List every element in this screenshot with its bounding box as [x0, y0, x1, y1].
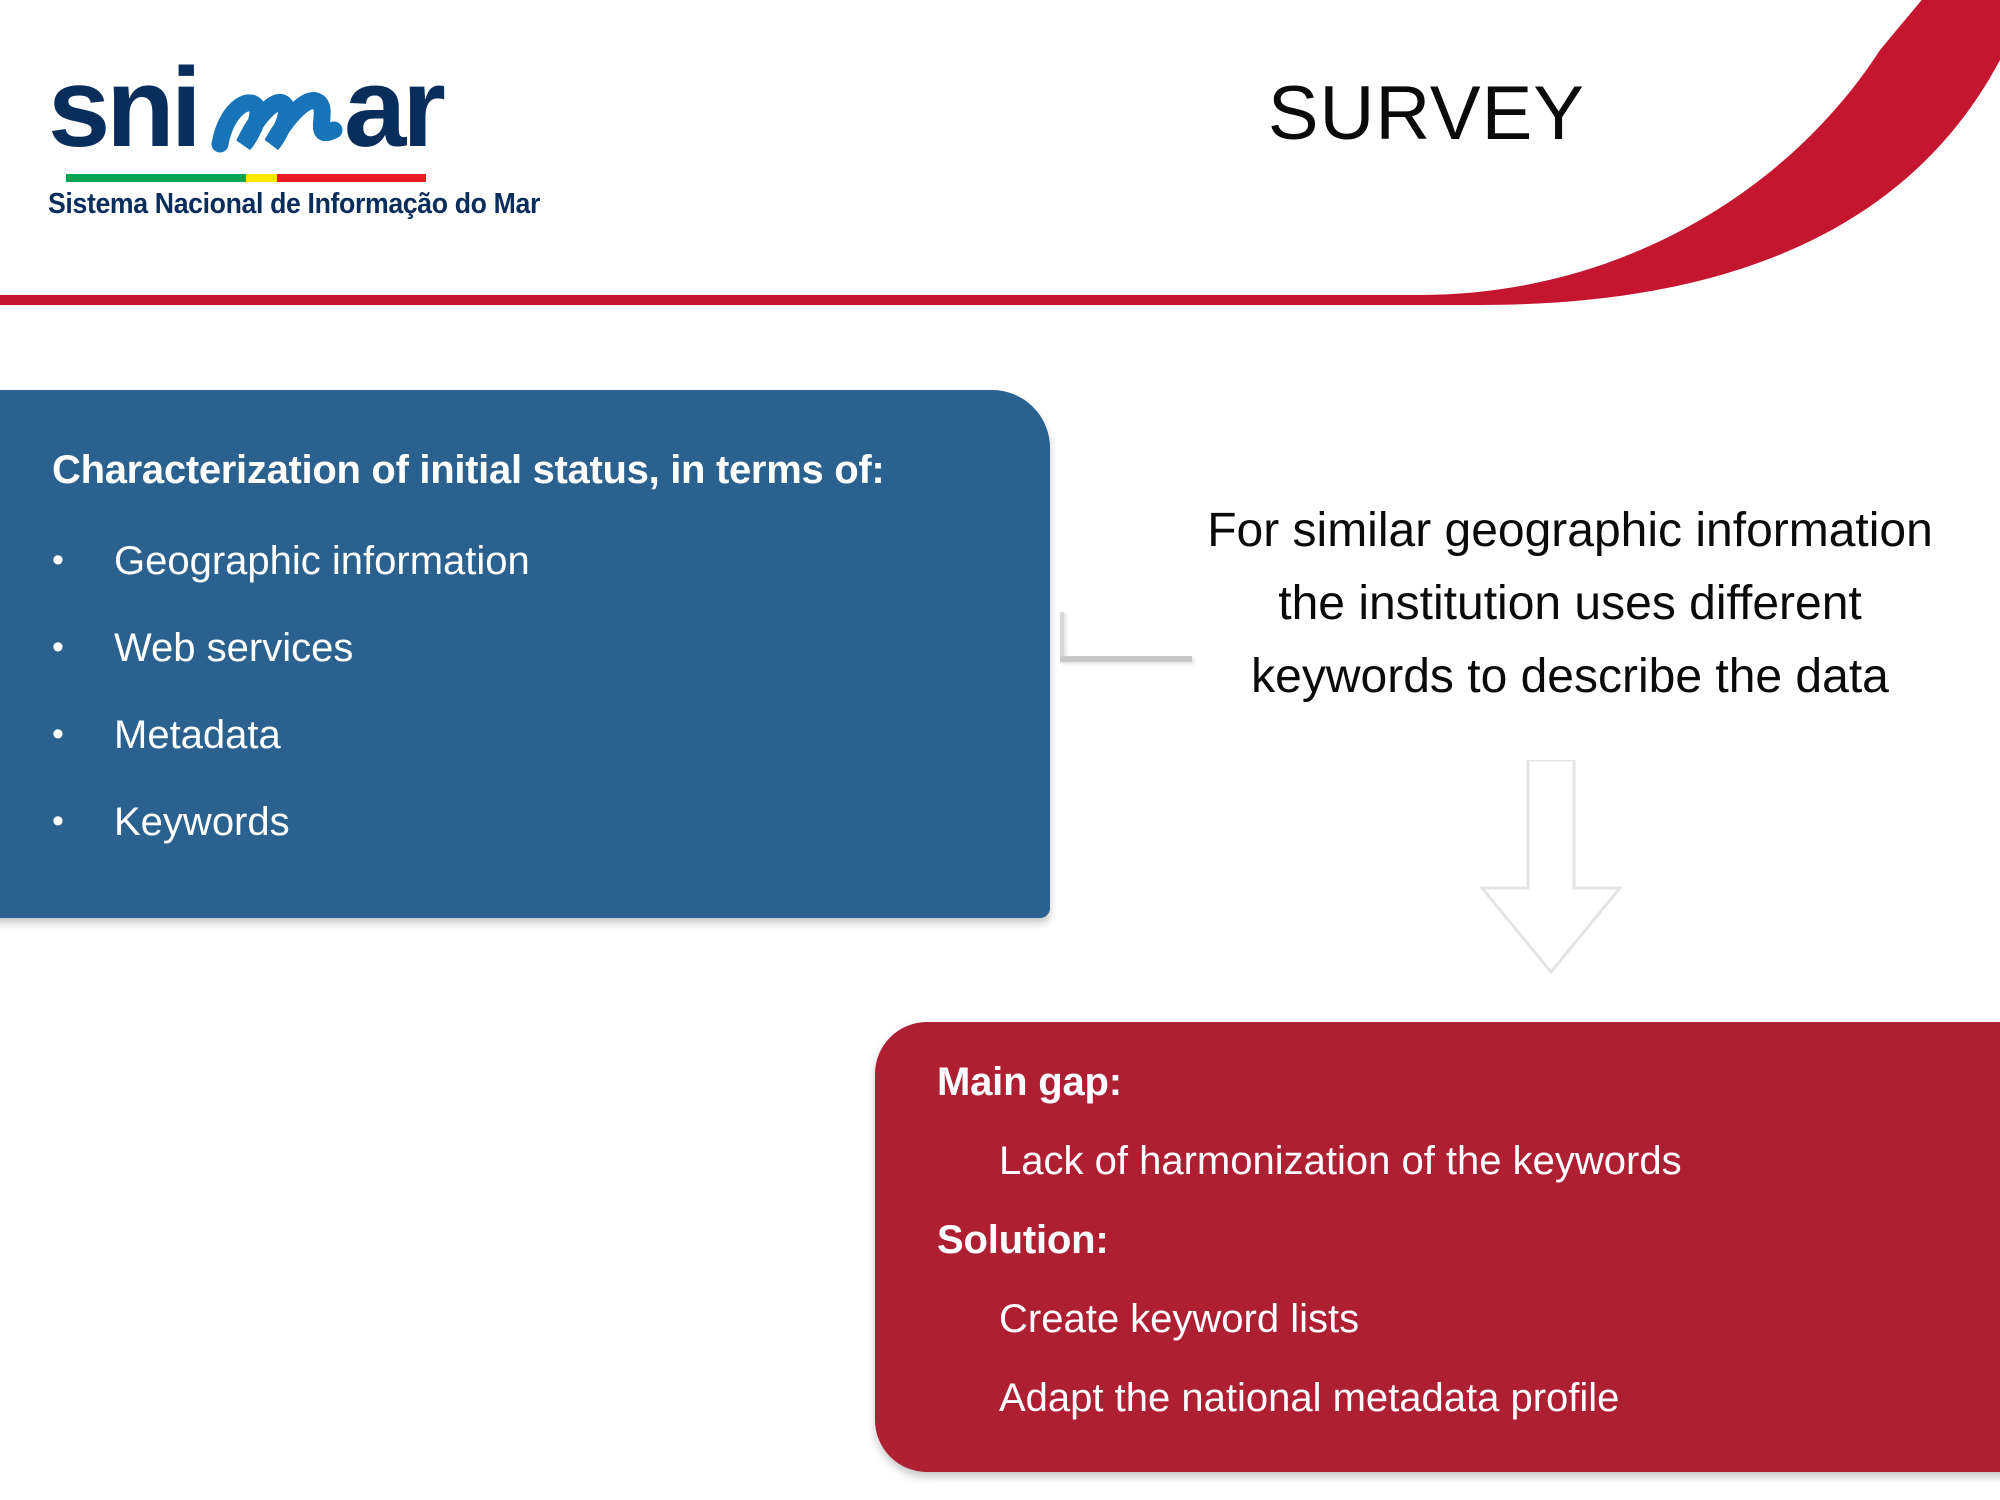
- connector-vertical-line: [1060, 612, 1064, 660]
- main-gap-label: Main gap:: [937, 1060, 2000, 1105]
- svg-text:ar: ar: [344, 48, 444, 168]
- bullet-icon: •: [52, 715, 114, 754]
- logo-color-bar: [66, 174, 426, 182]
- list-item-label: Geographic information: [114, 541, 530, 581]
- svg-text:sni: sni: [48, 48, 198, 168]
- list-item: • Geographic information: [52, 541, 1010, 581]
- slide-canvas: sni ar Sistema Nacional de Informação do…: [0, 0, 2000, 1500]
- list-item-label: Web services: [114, 628, 353, 668]
- logo-bar-yellow: [246, 174, 277, 182]
- logo-tagline: Sistema Nacional de Informação do Mar: [48, 188, 540, 221]
- bullet-icon: •: [52, 802, 114, 841]
- list-item-label: Metadata: [114, 715, 281, 755]
- list-item-label: Keywords: [114, 802, 290, 842]
- logo-bar-green: [66, 174, 246, 182]
- characterization-list: • Geographic information • Web services …: [52, 541, 1010, 842]
- snimar-logo: sni ar Sistema Nacional de Informação do…: [48, 48, 568, 228]
- bullet-icon: •: [52, 541, 114, 580]
- solution-label: Solution:: [937, 1218, 2000, 1263]
- bullet-icon: •: [52, 628, 114, 667]
- callout-text-block: For similar geographic information the i…: [1155, 495, 1985, 714]
- callout-line: keywords to describe the data: [1155, 641, 1985, 714]
- callout-line: For similar geographic information: [1155, 495, 1985, 568]
- solution-item: Adapt the national metadata profile: [999, 1376, 2000, 1421]
- main-gap-item: Lack of harmonization of the keywords: [999, 1139, 2000, 1184]
- list-item: • Metadata: [52, 715, 1010, 755]
- characterization-panel: Characterization of initial status, in t…: [0, 390, 1050, 918]
- callout-line: the institution uses different: [1155, 568, 1985, 641]
- list-item: • Keywords: [52, 802, 1010, 842]
- logo-wordmark-icon: sni ar: [48, 48, 548, 168]
- logo-bar-red: [277, 174, 426, 182]
- down-arrow-icon: [1470, 760, 1650, 980]
- solution-item: Create keyword lists: [999, 1297, 2000, 1342]
- list-item: • Web services: [52, 628, 1010, 668]
- gap-solution-panel: Main gap: Lack of harmonization of the k…: [875, 1022, 2000, 1472]
- characterization-heading: Characterization of initial status, in t…: [52, 448, 1010, 493]
- page-title: SURVEY: [1268, 70, 1585, 157]
